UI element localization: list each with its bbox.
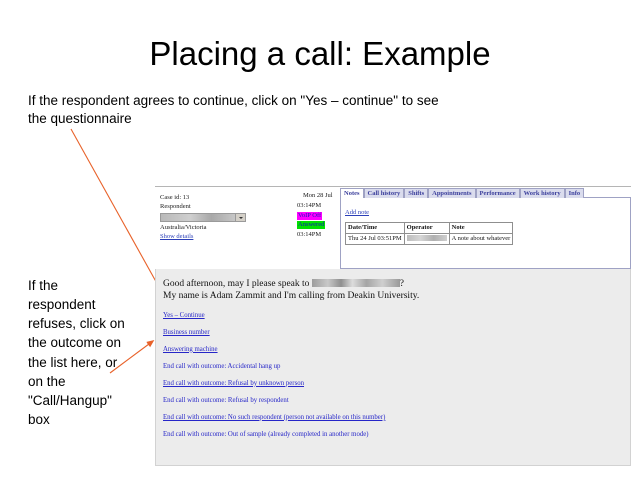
- tab-info[interactable]: Info: [565, 188, 585, 198]
- notes-tab-body: Add note Date/Time Operator Note Thu 24 …: [340, 198, 631, 269]
- annotation-note-left: If the respondent refuses, click on the …: [28, 276, 126, 429]
- respondent-label: Respondent: [160, 202, 255, 211]
- cell-operator: [404, 233, 449, 244]
- script-line-1-prefix: Good afternoon, may I please speak to: [163, 279, 312, 289]
- outcome-no-such-respondent[interactable]: End call with outcome: No such responden…: [163, 414, 385, 421]
- annotation-note-top: If the respondent agrees to continue, cl…: [28, 92, 458, 128]
- voip-status-badge[interactable]: VoIP Off: [297, 212, 322, 220]
- outcome-link-list: Yes – Continue Business number Answering…: [163, 312, 630, 438]
- tab-row: Notes Call history Shifts Appointments P…: [340, 187, 631, 198]
- tab-call-history[interactable]: Call history: [364, 188, 405, 198]
- outcome-business-number[interactable]: Business number: [163, 329, 210, 336]
- redacted-operator: [407, 235, 447, 241]
- case-info-panel: Case id: 13 Respondent Australia/Victori…: [160, 193, 255, 242]
- call-script-area: Good afternoon, may I please speak to ? …: [155, 269, 631, 466]
- add-note-link[interactable]: Add note: [345, 209, 369, 216]
- outcome-refusal-unknown[interactable]: End call with outcome: Refusal by unknow…: [163, 380, 304, 387]
- case-id-label: Case id: 13: [160, 193, 255, 202]
- notes-table: Date/Time Operator Note Thu 24 Jul 03:51…: [345, 222, 513, 245]
- outcome-out-of-sample[interactable]: End call with outcome: Out of sample (al…: [163, 431, 369, 438]
- embedded-app-screenshot: Case id: 13 Respondent Australia/Victori…: [155, 186, 631, 466]
- script-line-2: My name is Adam Zammit and I'm calling f…: [163, 290, 630, 302]
- outcome-yes-continue[interactable]: Yes – Continue: [163, 312, 205, 319]
- page-title: Placing a call: Example: [0, 36, 640, 72]
- outcome-answering-machine[interactable]: Answering machine: [163, 346, 218, 353]
- script-line-1: Good afternoon, may I please speak to ?: [163, 278, 630, 290]
- app-toolbar: Case id: 13 Respondent Australia/Victori…: [155, 186, 631, 269]
- arrow-top: [71, 129, 164, 296]
- cell-datetime: Thu 24 Jul 03:51PM: [346, 233, 405, 244]
- tab-notes[interactable]: Notes: [340, 188, 364, 198]
- info-tab-panel: Notes Call history Shifts Appointments P…: [340, 187, 631, 269]
- notes-table-header-row: Date/Time Operator Note: [346, 223, 513, 234]
- tab-filler: [584, 187, 631, 198]
- column-note: Note: [449, 223, 513, 234]
- show-details-link[interactable]: Show details: [160, 233, 193, 240]
- tab-shifts[interactable]: Shifts: [404, 188, 428, 198]
- table-row[interactable]: Thu 24 Jul 03:51PM A note about whatever: [346, 233, 513, 244]
- column-operator: Operator: [404, 223, 449, 234]
- respondent-select[interactable]: [160, 213, 246, 222]
- tab-appointments[interactable]: Appointments: [428, 188, 475, 198]
- outcome-accidental-hang-up[interactable]: End call with outcome: Accidental hang u…: [163, 363, 280, 370]
- tab-performance[interactable]: Performance: [476, 188, 520, 198]
- answered-status-badge: Answered: [297, 221, 325, 229]
- outcome-refusal-respondent[interactable]: End call with outcome: Refusal by respon…: [163, 397, 289, 404]
- script-line-1-suffix: ?: [400, 279, 404, 289]
- cell-note: A note about whatever: [449, 233, 513, 244]
- timezone-label: Australia/Victoria: [160, 223, 255, 232]
- column-datetime: Date/Time: [346, 223, 405, 234]
- tab-work-history[interactable]: Work history: [520, 188, 565, 198]
- redacted-respondent-name: [312, 279, 400, 287]
